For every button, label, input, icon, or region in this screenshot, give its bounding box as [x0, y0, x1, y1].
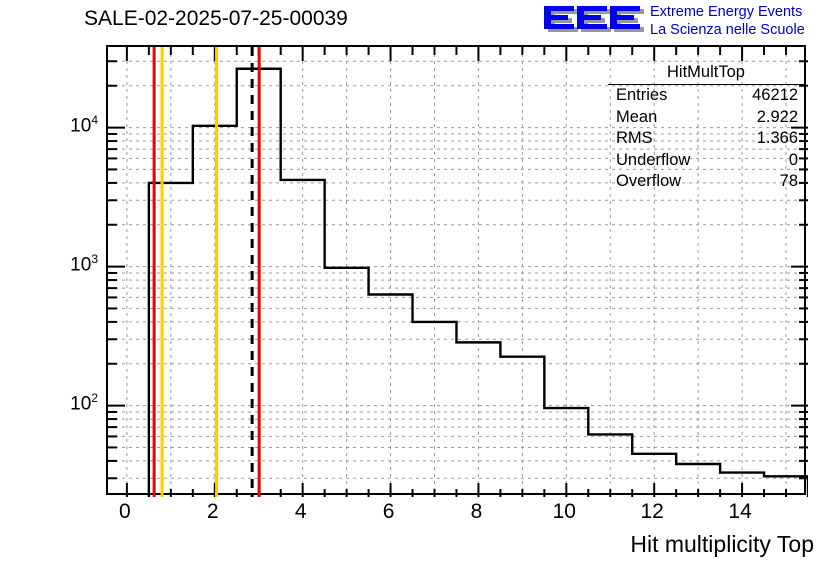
y-tick-label-10000: 104 — [38, 113, 98, 137]
x-axis-title: Hit multiplicity Top — [630, 531, 814, 558]
stats-row-label: Overflow — [616, 172, 681, 192]
stats-row-value: 78 — [780, 172, 798, 192]
stats-row-value: 2.922 — [757, 108, 798, 128]
stats-row-value: 1.366 — [757, 129, 798, 149]
stats-rows: Entries46212Mean2.922RMS1.366Underflow0O… — [608, 85, 804, 193]
eee-logo-line2: La Scienza nelle Scuole — [650, 21, 805, 39]
page-title: SALE-02-2025-07-25-00039 — [84, 7, 348, 31]
eee-logo-line1: Extreme Energy Events — [650, 3, 805, 21]
stats-row-label: Entries — [616, 86, 667, 106]
y-tick-label-1000: 103 — [38, 252, 98, 276]
x-tick-label-4: 4 — [281, 500, 321, 524]
stats-row: Underflow0 — [608, 150, 804, 172]
stats-title: HitMultTop — [608, 62, 804, 85]
stats-row-label: Underflow — [616, 151, 690, 171]
x-tick-label-6: 6 — [369, 500, 409, 524]
stats-row-value: 0 — [789, 151, 798, 171]
root-canvas: SALE-02-2025-07-25-00039 Extreme Energy … — [0, 0, 836, 572]
stats-box: HitMultTop Entries46212Mean2.922RMS1.366… — [608, 62, 804, 193]
x-tick-label-10: 10 — [544, 500, 584, 524]
eee-logo-text: Extreme Energy Events La Scienza nelle S… — [650, 3, 805, 39]
stats-row: Overflow78 — [608, 171, 804, 193]
stats-row: RMS1.366 — [608, 128, 804, 150]
stats-row-label: RMS — [616, 129, 653, 149]
eee-logo: Extreme Energy Events La Scienza nelle S… — [542, 3, 832, 41]
stats-row: Entries46212 — [608, 85, 804, 107]
stats-row: Mean2.922 — [608, 107, 804, 129]
x-tick-label-12: 12 — [632, 500, 672, 524]
x-tick-label-2: 2 — [193, 500, 233, 524]
stats-row-value: 46212 — [752, 86, 798, 106]
x-tick-label-0: 0 — [105, 500, 145, 524]
x-tick-label-8: 8 — [456, 500, 496, 524]
x-tick-label-14: 14 — [720, 500, 760, 524]
stats-row-label: Mean — [616, 108, 657, 128]
y-tick-label-100: 102 — [38, 391, 98, 415]
eee-logo-mark — [542, 4, 644, 37]
